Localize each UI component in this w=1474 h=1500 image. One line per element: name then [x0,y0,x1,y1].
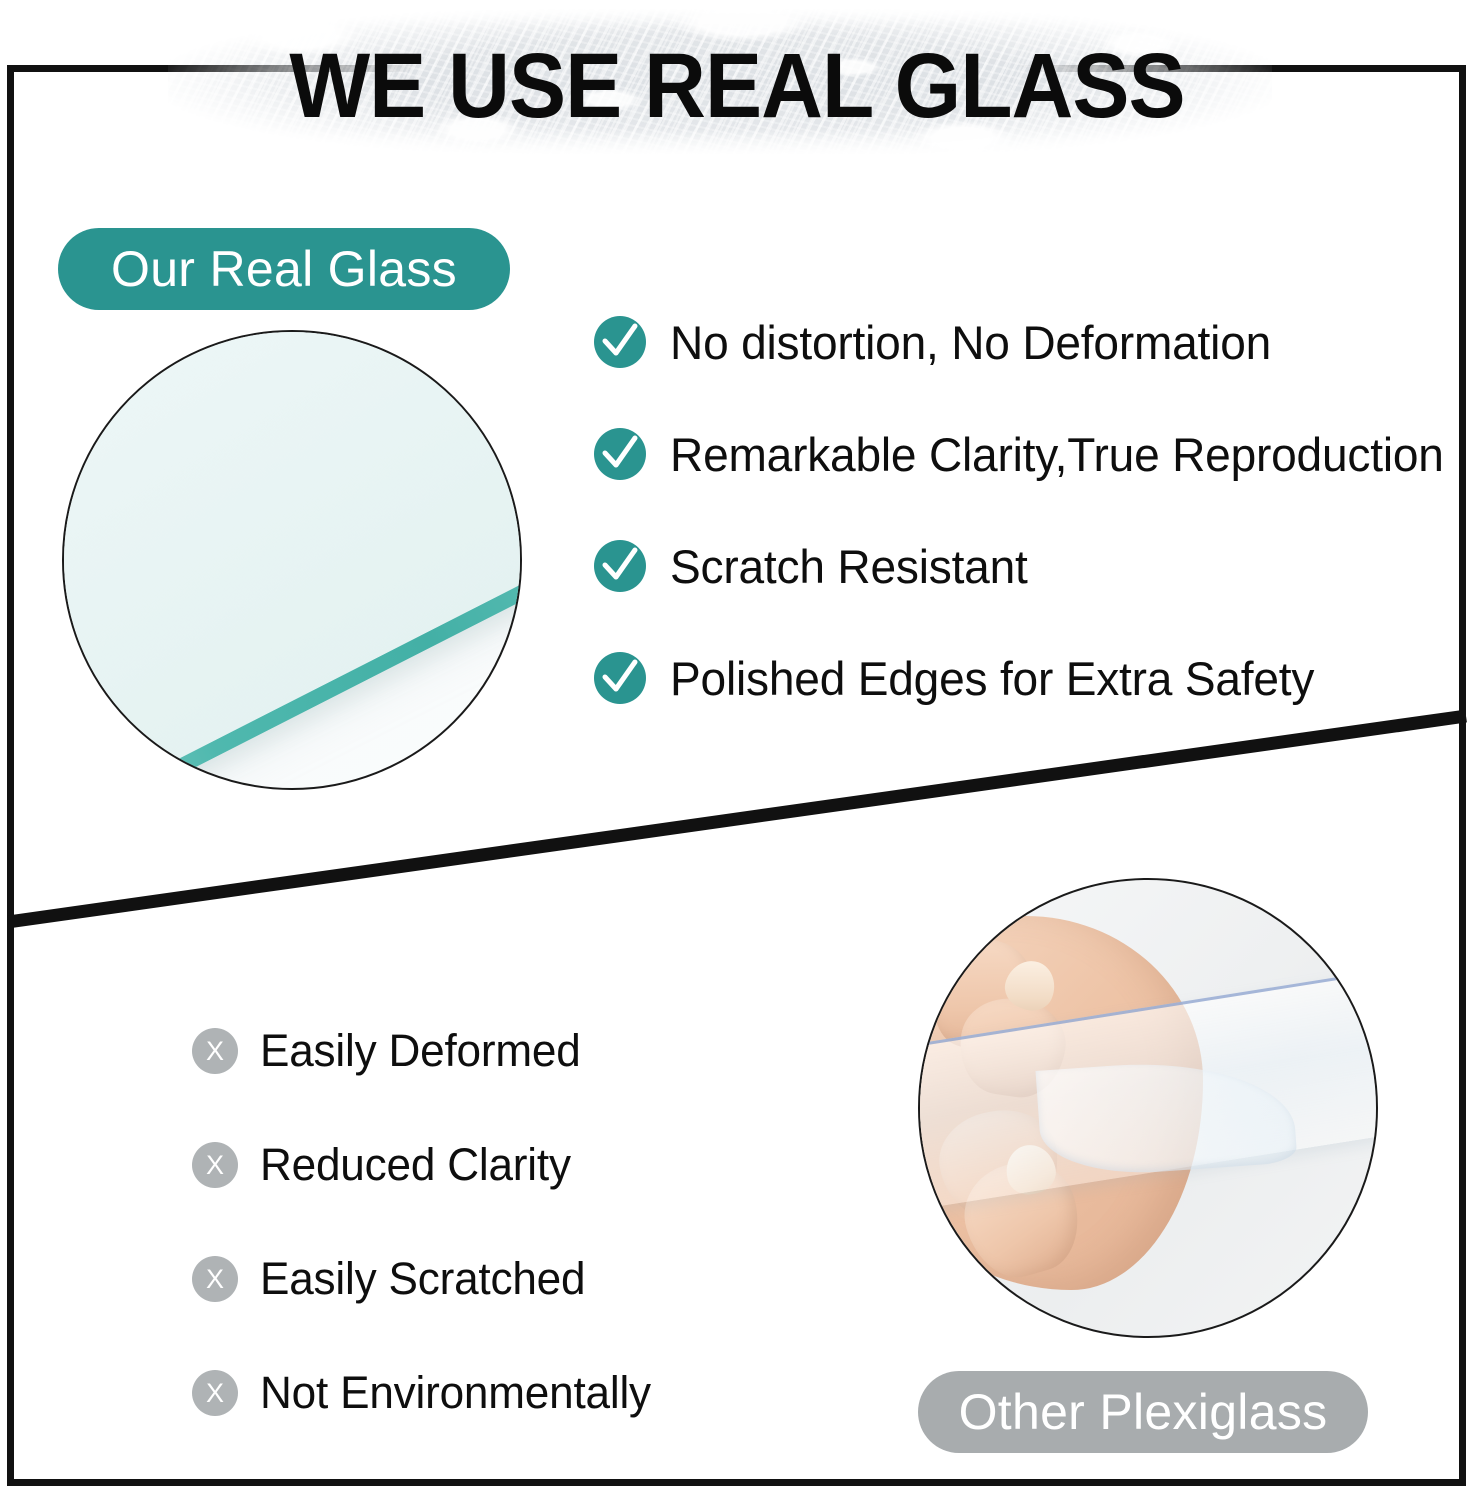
list-item: Polished Edges for Extra Safety [594,622,1454,734]
list-item-label: Not Environmentally [260,1367,651,1419]
list-item: Scratch Resistant [594,510,1454,622]
list-item: No distortion, No Deformation [594,286,1454,398]
list-item-label: Easily Deformed [260,1025,581,1077]
check-circle-icon [594,540,646,592]
check-circle-icon [594,652,646,704]
x-circle-icon: X [192,1028,238,1074]
x-circle-icon: X [192,1142,238,1188]
plexiglass-photo [918,878,1378,1338]
badge-other-plexiglass: Other Plexiglass [918,1371,1368,1453]
page-title: WE USE REAL GLASS [52,34,1423,139]
list-item-label: Scratch Resistant [670,539,1028,594]
list-item-label: Easily Scratched [260,1253,585,1305]
list-item: X Easily Deformed [192,994,812,1108]
real-glass-photo [62,330,522,790]
list-item-label: Remarkable Clarity,True Reproduction [670,427,1444,482]
check-circle-icon [594,316,646,368]
list-item: Remarkable Clarity,True Reproduction [594,398,1454,510]
cons-list: X Easily Deformed X Reduced Clarity X Ea… [192,994,812,1450]
x-circle-icon: X [192,1370,238,1416]
list-item: X Reduced Clarity [192,1108,812,1222]
list-item-label: Reduced Clarity [260,1139,571,1191]
list-item: X Easily Scratched [192,1222,812,1336]
x-circle-icon: X [192,1256,238,1302]
list-item-label: Polished Edges for Extra Safety [670,651,1314,706]
badge-our-real-glass: Our Real Glass [58,228,510,310]
list-item-label: No distortion, No Deformation [670,315,1271,370]
comparison-infographic: WE USE REAL GLASS Our Real Glass No dist… [0,0,1474,1500]
check-circle-icon [594,428,646,480]
list-item: X Not Environmentally [192,1336,812,1450]
pros-list: No distortion, No Deformation Remarkable… [594,286,1454,734]
